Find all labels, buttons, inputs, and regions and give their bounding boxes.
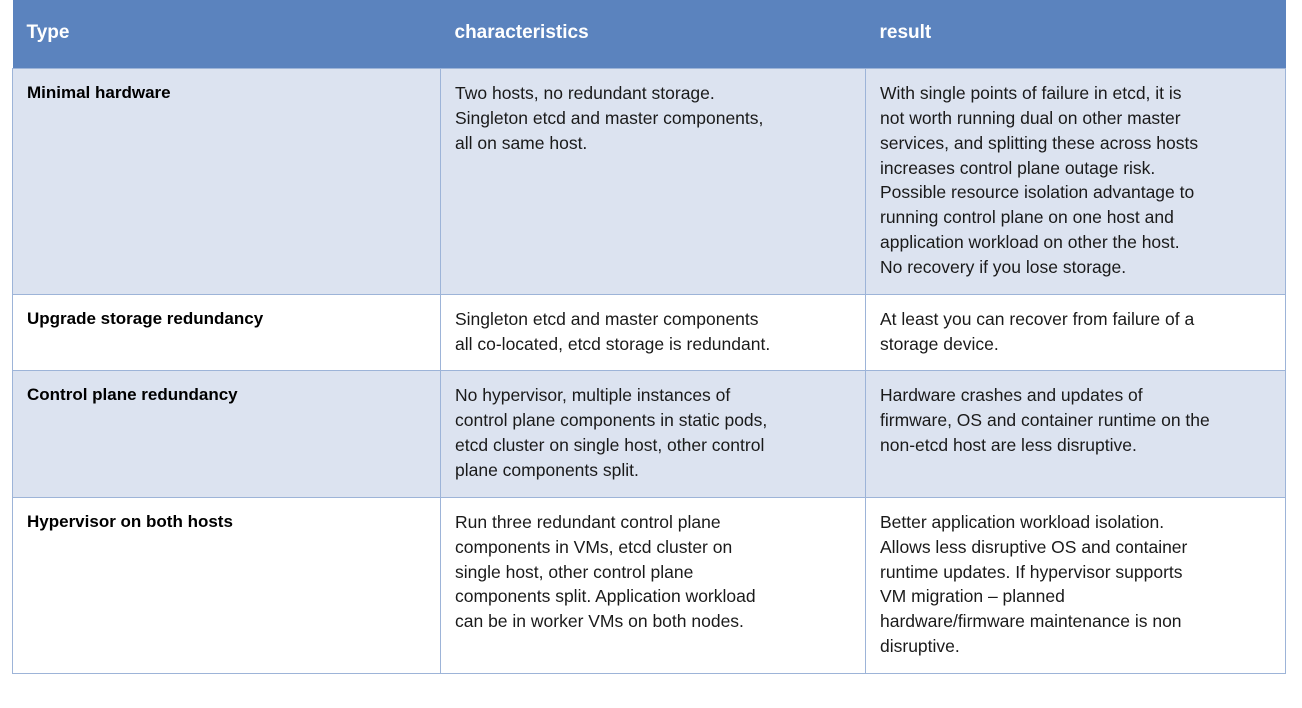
text-line: Singleton etcd and master components, <box>455 106 851 131</box>
text-line: At least you can recover from failure of… <box>880 307 1271 332</box>
table-row: Control plane redundancy No hypervisor, … <box>13 371 1286 497</box>
text-line: Two hosts, no redundant storage. <box>455 81 851 106</box>
text-line: disruptive. <box>880 634 1271 659</box>
text-line: all on same host. <box>455 131 851 156</box>
text-line: running control plane on one host and <box>880 205 1271 230</box>
text-line: components in VMs, etcd cluster on <box>455 535 851 560</box>
cell-result: Better application workload isolation.Al… <box>866 497 1286 673</box>
text-line: can be in worker VMs on both nodes. <box>455 609 851 634</box>
cell-characteristics: No hypervisor, multiple instances ofcont… <box>441 371 866 497</box>
text-line: services, and splitting these across hos… <box>880 131 1271 156</box>
table-header: Type characteristics result <box>13 0 1286 69</box>
comparison-table-container: Type characteristics result Minimal hard… <box>0 0 1302 674</box>
text-line: storage device. <box>880 332 1271 357</box>
cell-type: Hypervisor on both hosts <box>13 497 441 673</box>
text-line: Run three redundant control plane <box>455 510 851 535</box>
cell-result: Hardware crashes and updates offirmware,… <box>866 371 1286 497</box>
cell-characteristics: Singleton etcd and master componentsall … <box>441 294 866 371</box>
text-line: No hypervisor, multiple instances of <box>455 383 851 408</box>
cell-type: Minimal hardware <box>13 69 441 295</box>
text-line: not worth running dual on other master <box>880 106 1271 131</box>
table-row: Hypervisor on both hosts Run three redun… <box>13 497 1286 673</box>
text-line: No recovery if you lose storage. <box>880 255 1271 280</box>
text-line: Allows less disruptive OS and container <box>880 535 1271 560</box>
text-line: etcd cluster on single host, other contr… <box>455 433 851 458</box>
cell-result: At least you can recover from failure of… <box>866 294 1286 371</box>
text-line: non-etcd host are less disruptive. <box>880 433 1271 458</box>
column-header-characteristics: characteristics <box>441 0 866 69</box>
text-line: VM migration – planned <box>880 584 1271 609</box>
text-line: increases control plane outage risk. <box>880 156 1271 181</box>
text-line: Possible resource isolation advantage to <box>880 180 1271 205</box>
cell-type: Control plane redundancy <box>13 371 441 497</box>
cell-type: Upgrade storage redundancy <box>13 294 441 371</box>
ha-topology-comparison-table: Type characteristics result Minimal hard… <box>12 0 1286 674</box>
text-line: Singleton etcd and master components <box>455 307 851 332</box>
text-line: Hardware crashes and updates of <box>880 383 1271 408</box>
table-row: Upgrade storage redundancy Singleton etc… <box>13 294 1286 371</box>
cell-characteristics: Two hosts, no redundant storage.Singleto… <box>441 69 866 295</box>
text-line: plane components split. <box>455 458 851 483</box>
text-line: control plane components in static pods, <box>455 408 851 433</box>
text-line: firmware, OS and container runtime on th… <box>880 408 1271 433</box>
text-line: components split. Application workload <box>455 584 851 609</box>
text-line: With single points of failure in etcd, i… <box>880 81 1271 106</box>
header-row: Type characteristics result <box>13 0 1286 69</box>
cell-characteristics: Run three redundant control planecompone… <box>441 497 866 673</box>
text-line: hardware/firmware maintenance is non <box>880 609 1271 634</box>
text-line: single host, other control plane <box>455 560 851 585</box>
cell-result: With single points of failure in etcd, i… <box>866 69 1286 295</box>
column-header-type: Type <box>13 0 441 69</box>
column-header-result: result <box>866 0 1286 69</box>
text-line: Better application workload isolation. <box>880 510 1271 535</box>
table-body: Minimal hardware Two hosts, no redundant… <box>13 69 1286 674</box>
text-line: all co-located, etcd storage is redundan… <box>455 332 851 357</box>
text-line: application workload on other the host. <box>880 230 1271 255</box>
text-line: runtime updates. If hypervisor supports <box>880 560 1271 585</box>
table-row: Minimal hardware Two hosts, no redundant… <box>13 69 1286 295</box>
